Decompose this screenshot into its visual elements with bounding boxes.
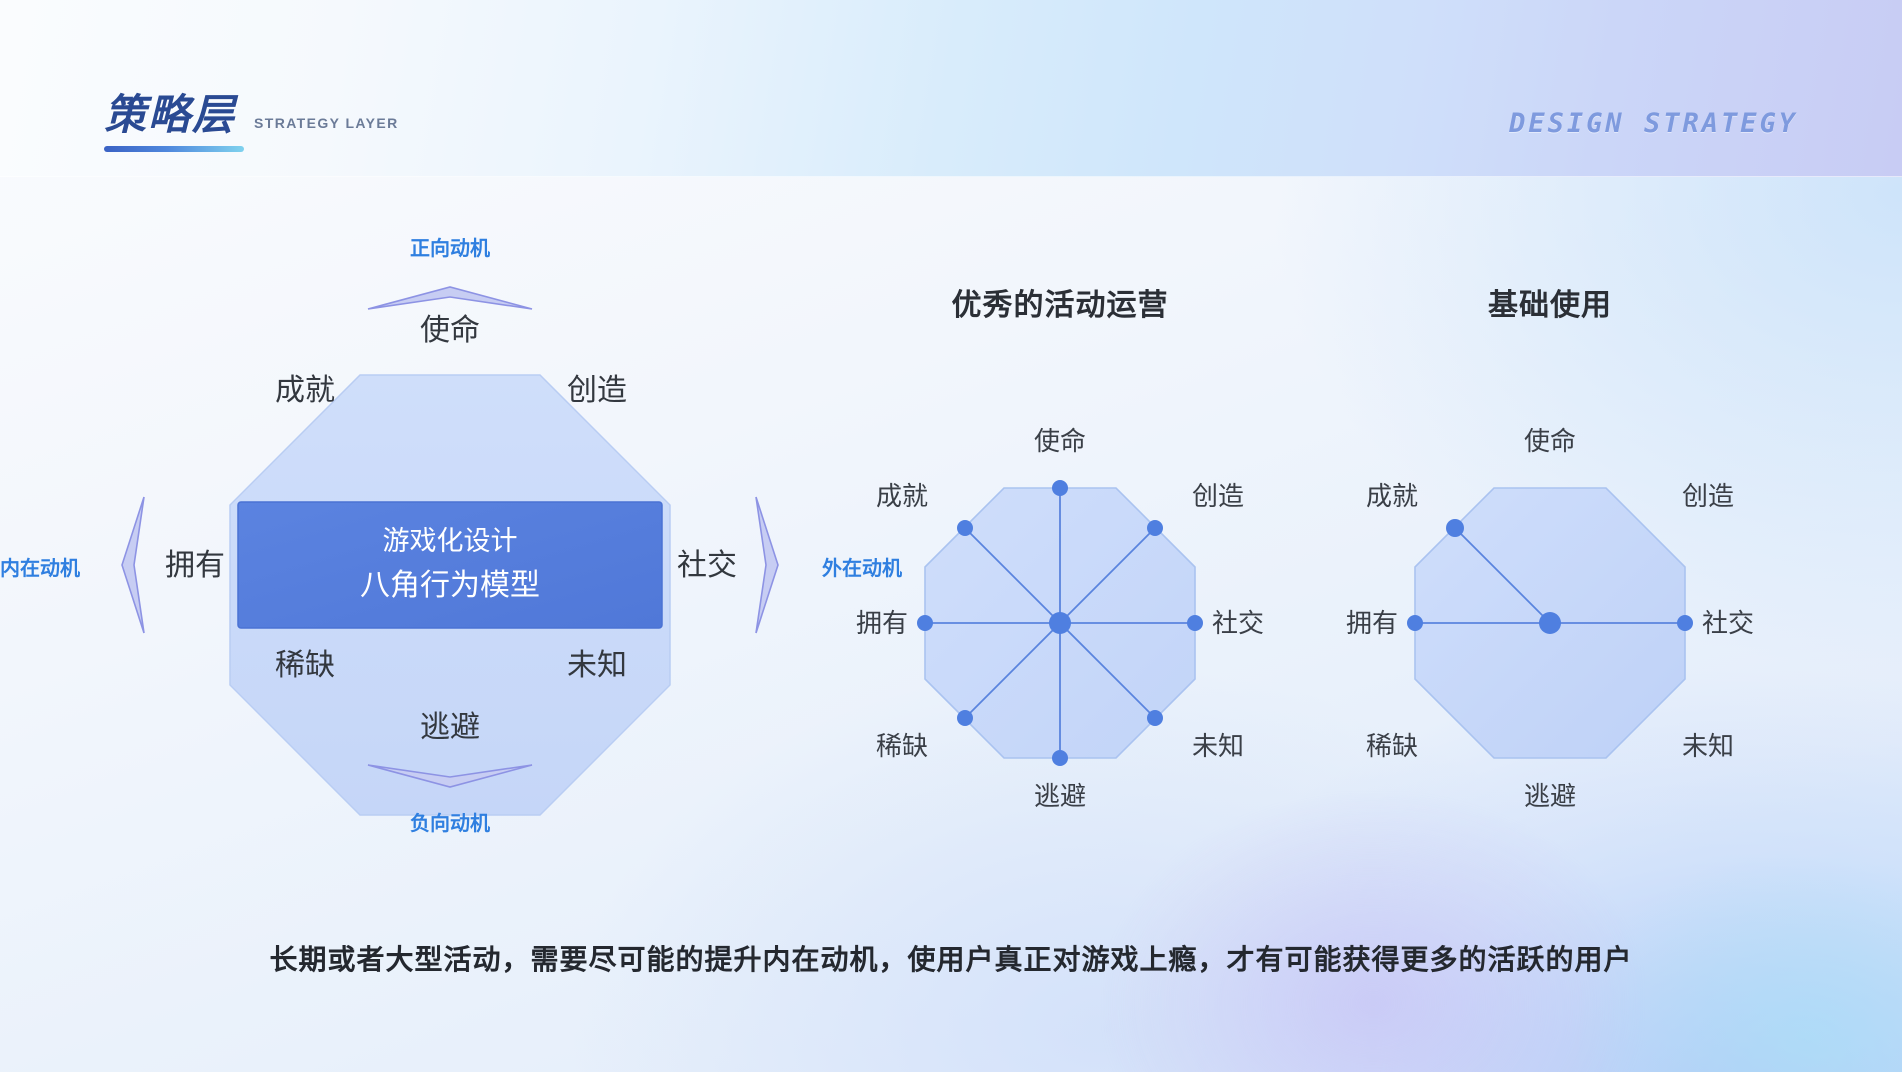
title-underline: [104, 146, 244, 152]
radar1-label-scarcity: 稀缺: [876, 732, 928, 762]
chart-title-excellent-ops: 优秀的活动运营: [800, 280, 1320, 324]
page-subtitle: STRATEGY LAYER: [254, 116, 399, 136]
radar1-label-avoidance: 逃避: [1034, 782, 1086, 812]
radar-chart-basic-usage: 基础使用 使命 创造 社交 未知: [1290, 280, 1810, 920]
label-positive-motivation: 正向动机: [410, 236, 490, 260]
center-box-line1: 游戏化设计: [383, 526, 518, 557]
label-accomplishment: 成就: [275, 373, 335, 408]
slide-header: 策略层 STRATEGY LAYER DESIGN STRATEGY: [0, 0, 1902, 177]
label-scarcity: 稀缺: [275, 648, 335, 683]
center-box-line2: 八角行为模型: [360, 568, 540, 603]
radar2-label-accomplishment: 成就: [1366, 482, 1418, 512]
radar-chart-excellent-ops: 优秀的活动运营: [800, 280, 1320, 920]
radar2-label-ownership: 拥有: [1346, 609, 1398, 639]
chart-title-basic-usage: 基础使用: [1290, 280, 1810, 324]
page-title: 策略层: [104, 94, 236, 136]
label-social: 社交: [677, 548, 737, 583]
radar1-label-ownership: 拥有: [856, 609, 908, 639]
radar1-label-creativity: 创造: [1192, 482, 1244, 512]
label-mission: 使命: [420, 313, 480, 348]
slide-canvas: 策略层 STRATEGY LAYER DESIGN STRATEGY: [0, 0, 1902, 1072]
octagon-behavior-model: 游戏化设计 八角行为模型 使命 成就 创造 拥有 社交 稀缺 未知 逃避 正向动…: [110, 265, 870, 905]
radar2-label-mission: 使命: [1524, 427, 1576, 457]
radar2-label-avoidance: 逃避: [1524, 782, 1576, 812]
chevron-left-icon: [122, 497, 144, 633]
radar1-label-social: 社交: [1212, 609, 1264, 639]
center-box: [238, 502, 662, 628]
brand-block: 策略层 STRATEGY LAYER: [104, 94, 399, 136]
radar2-label-social: 社交: [1702, 609, 1754, 639]
label-creativity: 创造: [567, 373, 627, 408]
chevron-right-icon: [756, 497, 778, 633]
radar2-label-scarcity: 稀缺: [1366, 732, 1418, 762]
radar1-label-mission: 使命: [1034, 427, 1086, 457]
radar2-label-unpredictability: 未知: [1682, 732, 1734, 762]
label-avoidance: 逃避: [420, 710, 480, 745]
radar2-label-creativity: 创造: [1682, 482, 1734, 512]
label-negative-motivation: 负向动机: [410, 811, 490, 835]
label-ownership: 拥有: [165, 548, 225, 583]
slide-caption: 长期或者大型活动，需要尽可能的提升内在动机，使用户真正对游戏上瘾，才有可能获得更…: [0, 938, 1902, 978]
slide-slogan: DESIGN STRATEGY: [1509, 108, 1798, 139]
label-unpredictability: 未知: [567, 648, 627, 683]
label-intrinsic-motivation: 内在动机: [0, 556, 80, 580]
radar1-label-unpredictability: 未知: [1192, 732, 1244, 762]
radar1-label-accomplishment: 成就: [876, 482, 928, 512]
chevron-up-icon: [368, 287, 532, 309]
